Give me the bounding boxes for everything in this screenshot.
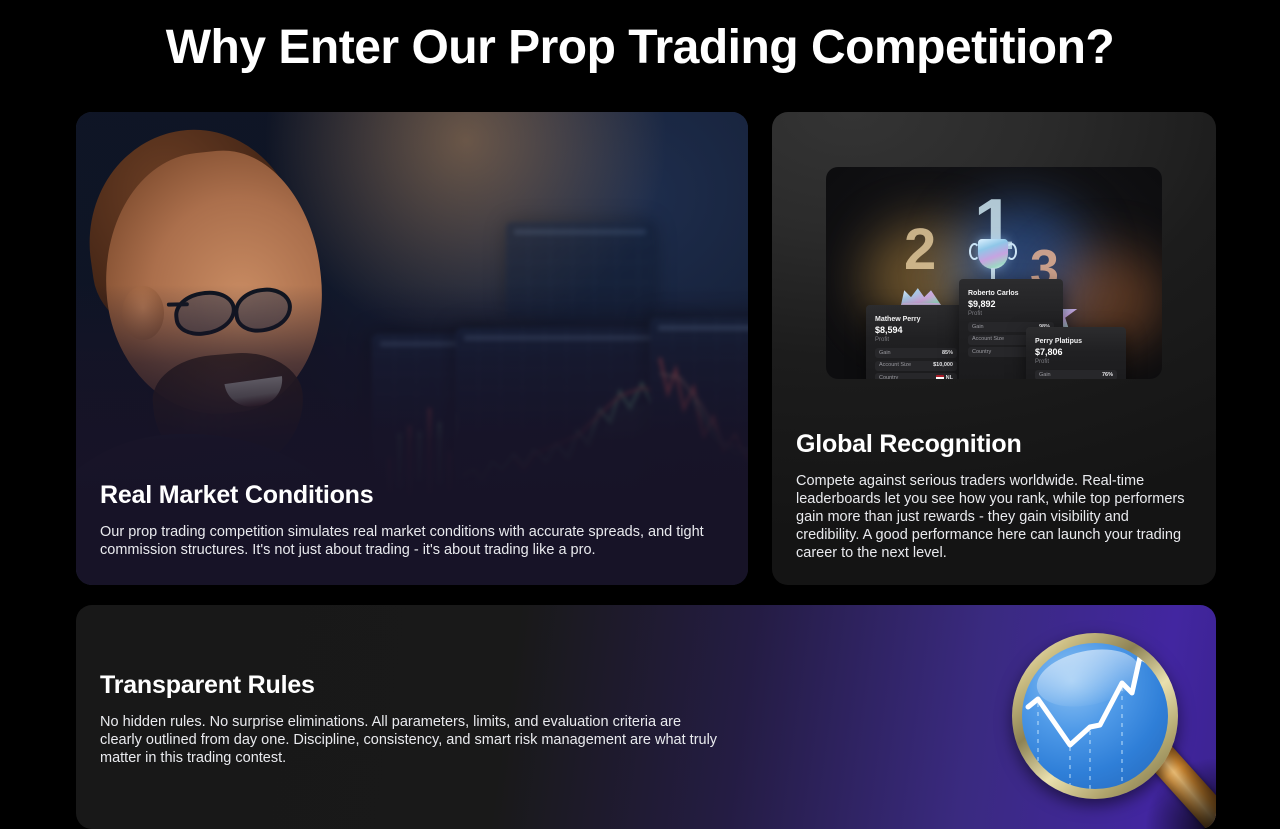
country-code: NL xyxy=(946,375,953,380)
card-market-text: Our prop trading competition simulates r… xyxy=(100,523,716,559)
card-global-heading: Global Recognition xyxy=(796,430,1196,459)
leaderboard-graphic: 2 1 3 Mathew Perry $8,594 Profit xyxy=(826,167,1162,379)
card-market-body: Real Market Conditions Our prop trading … xyxy=(100,481,716,559)
row-key: Account Size xyxy=(879,362,911,369)
flag-nl-icon xyxy=(936,375,944,379)
card-global-text: Compete against serious traders worldwid… xyxy=(796,472,1196,562)
page-title: Why Enter Our Prop Trading Competition? xyxy=(0,16,1280,80)
row-value: $10,000 xyxy=(933,362,953,369)
row-key: Gain xyxy=(1039,372,1051,379)
podium-3-row-gain: Gain 76% xyxy=(1035,370,1117,379)
row-key: Country xyxy=(879,375,898,380)
card-real-market-conditions[interactable]: Real Market Conditions Our prop trading … xyxy=(76,112,748,585)
card-rules-body: Transparent Rules No hidden rules. No su… xyxy=(100,671,720,767)
card-global-recognition[interactable]: 2 1 3 Mathew Perry $8,594 Profit xyxy=(772,112,1216,585)
podium-2-row-account-size: Account Size $10,000 xyxy=(875,361,957,371)
podium-2-row-gain: Gain 85% xyxy=(875,348,957,358)
podium-2-row-country: Country NL xyxy=(875,373,957,379)
row-value: 85% xyxy=(942,350,953,357)
magnifier-rim xyxy=(1012,633,1178,799)
magnifier-lens xyxy=(1022,643,1168,789)
magnifying-glass-icon xyxy=(1002,625,1216,829)
podium-second-place: Mathew Perry $8,594 Profit Gain 85% Acco… xyxy=(866,305,966,379)
row-key: Country xyxy=(972,349,991,356)
podium-1-name: Roberto Carlos xyxy=(968,289,1054,298)
podium-1-amount-label: Profit xyxy=(968,310,1054,318)
row-value: 76% xyxy=(1102,372,1113,379)
rank-number-2: 2 xyxy=(904,221,936,279)
card-transparent-rules[interactable]: Transparent Rules No hidden rules. No su… xyxy=(76,605,1216,829)
podium-3-amount-label: Profit xyxy=(1035,358,1117,366)
podium-2-amount: $8,594 xyxy=(875,325,957,336)
podium-2-amount-label: Profit xyxy=(875,336,957,344)
why-enter-section: Why Enter Our Prop Trading Competition? xyxy=(0,0,1280,829)
podium-1-amount: $9,892 xyxy=(968,299,1054,310)
card-rules-text: No hidden rules. No surprise elimination… xyxy=(100,713,720,767)
card-market-heading: Real Market Conditions xyxy=(100,481,716,510)
podium-2-name: Mathew Perry xyxy=(875,315,957,324)
row-key: Gain xyxy=(879,350,891,357)
row-key: Account Size xyxy=(972,336,1004,343)
podium-third-place: Perry Platipus $7,806 Profit Gain 76% Ac… xyxy=(1026,327,1126,379)
card-rules-heading: Transparent Rules xyxy=(100,671,720,700)
podium-3-name: Perry Platipus xyxy=(1035,337,1117,346)
podium-3-amount: $7,806 xyxy=(1035,347,1117,358)
row-value-country: NL xyxy=(936,375,953,380)
card-global-body: Global Recognition Compete against serio… xyxy=(796,430,1196,562)
row-key: Gain xyxy=(972,324,984,331)
